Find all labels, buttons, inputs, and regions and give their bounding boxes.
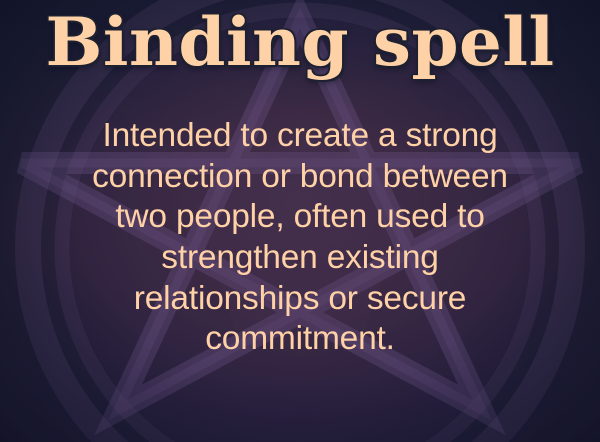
card-content: Binding spell Intended to create a stron… (0, 0, 600, 442)
description-line: Intended to create a strong (18, 116, 582, 157)
description-line: connection or bond between (18, 157, 582, 198)
description-line: strengthen existing (18, 238, 582, 279)
description-line: relationships or secure (18, 279, 582, 320)
spell-description: Intended to create a strong connection o… (0, 116, 600, 360)
page-title: Binding spell (0, 8, 600, 78)
description-line: two people, often used to (18, 197, 582, 238)
description-line: commitment. (18, 319, 582, 360)
spell-card: Binding spell Intended to create a stron… (0, 0, 600, 442)
